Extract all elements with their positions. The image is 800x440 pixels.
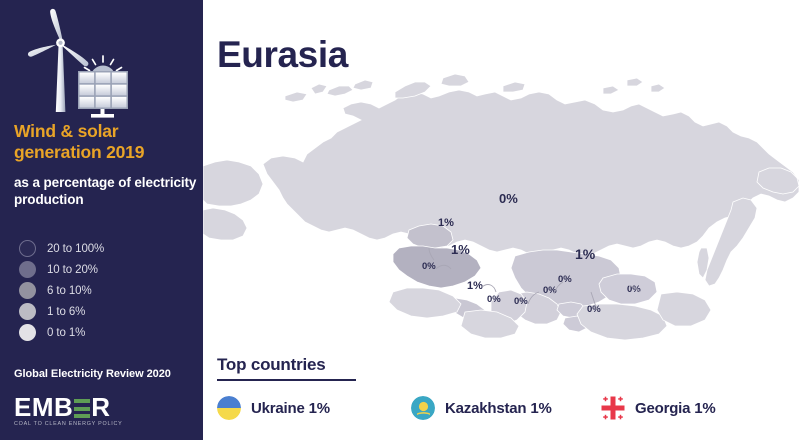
main-panel: Eurasia — [203, 0, 800, 440]
kazakhstan-flag-icon — [411, 396, 435, 420]
ember-logo: EMBR COAL TO CLEAN ENERGY POLICY — [14, 394, 132, 428]
legend-row: 6 to 10% — [14, 280, 194, 301]
legend-label: 6 to 10% — [47, 285, 92, 297]
ember-tagline: COAL TO CLEAN ENERGY POLICY — [14, 421, 132, 427]
legend: 20 to 100% 10 to 20% 6 to 10% 1 to 6% 0 … — [14, 238, 194, 343]
legend-row: 0 to 1% — [14, 322, 194, 343]
top-countries-heading: Top countries — [217, 355, 326, 375]
top-country-label: Georgia 1% — [635, 400, 716, 417]
legend-swatch-1-6 — [19, 303, 36, 320]
legend-label: 1 to 6% — [47, 306, 85, 318]
legend-label: 10 to 20% — [47, 264, 98, 276]
top-country-label: Kazakhstan 1% — [445, 400, 552, 417]
ember-word-part2: R — [91, 392, 110, 422]
sidebar: Wind & solar generation 2019 as a percen… — [0, 0, 203, 440]
legend-swatch-20-100 — [19, 240, 36, 257]
legend-row: 10 to 20% — [14, 259, 194, 280]
map-landmass — [203, 74, 799, 340]
wind-turbine-solar-panel-icon — [24, 8, 142, 120]
top-country-ukraine[interactable]: Ukraine 1% — [217, 393, 330, 423]
top-country-label: Ukraine 1% — [251, 400, 330, 417]
legend-swatch-6-10 — [19, 282, 36, 299]
top-country-georgia[interactable]: Georgia 1% — [601, 393, 716, 423]
infographic-root: Wind & solar generation 2019 as a percen… — [0, 0, 800, 440]
top-country-kazakhstan[interactable]: Kazakhstan 1% — [411, 393, 552, 423]
ember-green-e-icon — [74, 399, 90, 418]
subheadline: as a percentage of electricity productio… — [14, 175, 199, 208]
eurasia-map: 0% 1% 1% 0% 1% 0% 0% 1% 0% 0% 0% 0% — [203, 42, 800, 342]
ember-wordmark: EMBR — [14, 394, 132, 420]
legend-row: 20 to 100% — [14, 238, 194, 259]
headline: Wind & solar generation 2019 — [14, 121, 199, 163]
legend-swatch-10-20 — [19, 261, 36, 278]
legend-label: 0 to 1% — [47, 327, 85, 339]
ember-word-part1: EMB — [14, 392, 73, 422]
georgia-flag-icon — [601, 396, 625, 420]
report-title: Global Electricity Review 2020 — [14, 368, 171, 380]
ukraine-flag-icon — [217, 396, 241, 420]
legend-swatch-0-1 — [19, 324, 36, 341]
top-countries-underline — [217, 379, 356, 381]
legend-row: 1 to 6% — [14, 301, 194, 322]
legend-label: 20 to 100% — [47, 243, 104, 255]
